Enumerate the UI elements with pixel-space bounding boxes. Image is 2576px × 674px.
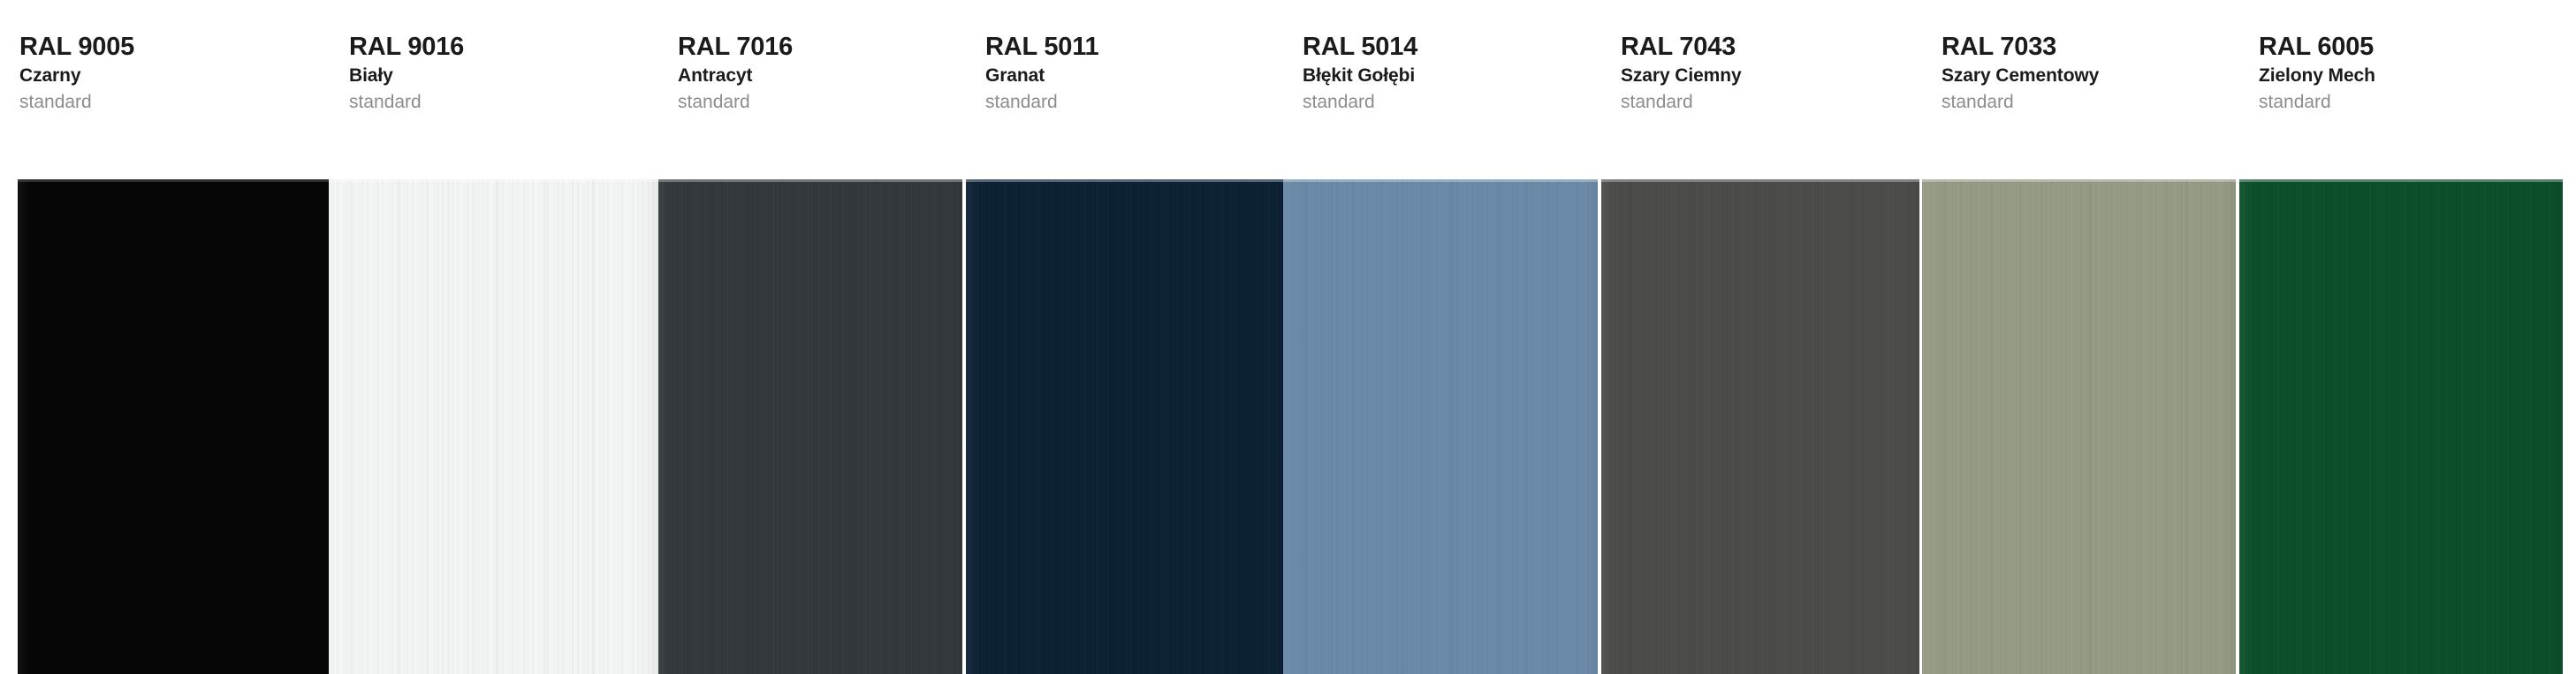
swatch-fill	[658, 179, 962, 674]
swatch-fill	[2239, 179, 2563, 674]
color-swatch-ral-9016[interactable]	[329, 179, 658, 674]
ral-variant: standard	[678, 93, 966, 112]
swatch-caption-ral-7033[interactable]: RAL 7033 Szary Cementowy standard	[1922, 0, 2239, 179]
swatch-caption-ral-5014[interactable]: RAL 5014 Błękit Gołębi standard	[1283, 0, 1601, 179]
ral-code: RAL 6005	[2259, 34, 2576, 60]
ral-variant: standard	[1621, 93, 1922, 112]
ral-name: Granat	[985, 66, 1283, 86]
ral-code: RAL 7043	[1621, 34, 1922, 60]
swatch-caption-ral-7043[interactable]: RAL 7043 Szary Ciemny standard	[1601, 0, 1922, 179]
color-swatch-ral-6005[interactable]	[2239, 179, 2563, 674]
ral-code: RAL 9016	[349, 34, 658, 60]
ral-code: RAL 5011	[985, 34, 1283, 60]
ral-name: Czarny	[19, 66, 330, 86]
ral-name: Błękit Gołębi	[1303, 66, 1601, 86]
swatch-fill	[966, 179, 1283, 674]
swatch-band	[0, 179, 2576, 674]
ral-name: Biały	[349, 66, 658, 86]
color-swatch-ral-7016[interactable]	[658, 179, 962, 674]
ral-name: Szary Ciemny	[1621, 66, 1922, 86]
color-swatch-ral-7033[interactable]	[1922, 179, 2236, 674]
ral-name: Antracyt	[678, 66, 966, 86]
color-swatch-ral-9005[interactable]	[18, 179, 329, 674]
color-swatch-ral-7043[interactable]	[1601, 179, 1919, 674]
swatch-fill	[329, 179, 658, 674]
ral-variant: standard	[2259, 93, 2576, 112]
ral-code: RAL 7016	[678, 34, 966, 60]
swatch-caption-ral-6005[interactable]: RAL 6005 Zielony Mech standard	[2239, 0, 2576, 179]
ral-code: RAL 5014	[1303, 34, 1601, 60]
color-swatch-ral-5014[interactable]	[1283, 179, 1598, 674]
ral-variant: standard	[349, 93, 658, 112]
ral-variant: standard	[1303, 93, 1601, 112]
swatch-caption-strip: RAL 9005 Czarny standard RAL 9016 Biały …	[0, 0, 2576, 179]
ral-variant: standard	[985, 93, 1283, 112]
swatch-fill	[1922, 179, 2236, 674]
swatch-caption-ral-5011[interactable]: RAL 5011 Granat standard	[966, 0, 1283, 179]
ral-name: Zielony Mech	[2259, 66, 2576, 86]
ral-name: Szary Cementowy	[1941, 66, 2239, 86]
swatch-fill	[1283, 179, 1598, 674]
swatch-caption-ral-9005[interactable]: RAL 9005 Czarny standard	[0, 0, 330, 179]
ral-swatch-gallery: RAL 9005 Czarny standard RAL 9016 Biały …	[0, 0, 2576, 674]
ral-variant: standard	[19, 93, 330, 112]
ral-code: RAL 7033	[1941, 34, 2239, 60]
color-swatch-ral-5011[interactable]	[966, 179, 1283, 674]
swatch-fill	[18, 179, 329, 674]
ral-code: RAL 9005	[19, 34, 330, 60]
swatch-caption-ral-7016[interactable]: RAL 7016 Antracyt standard	[658, 0, 966, 179]
ral-variant: standard	[1941, 93, 2239, 112]
swatch-caption-ral-9016[interactable]: RAL 9016 Biały standard	[330, 0, 658, 179]
swatch-fill	[1601, 179, 1919, 674]
